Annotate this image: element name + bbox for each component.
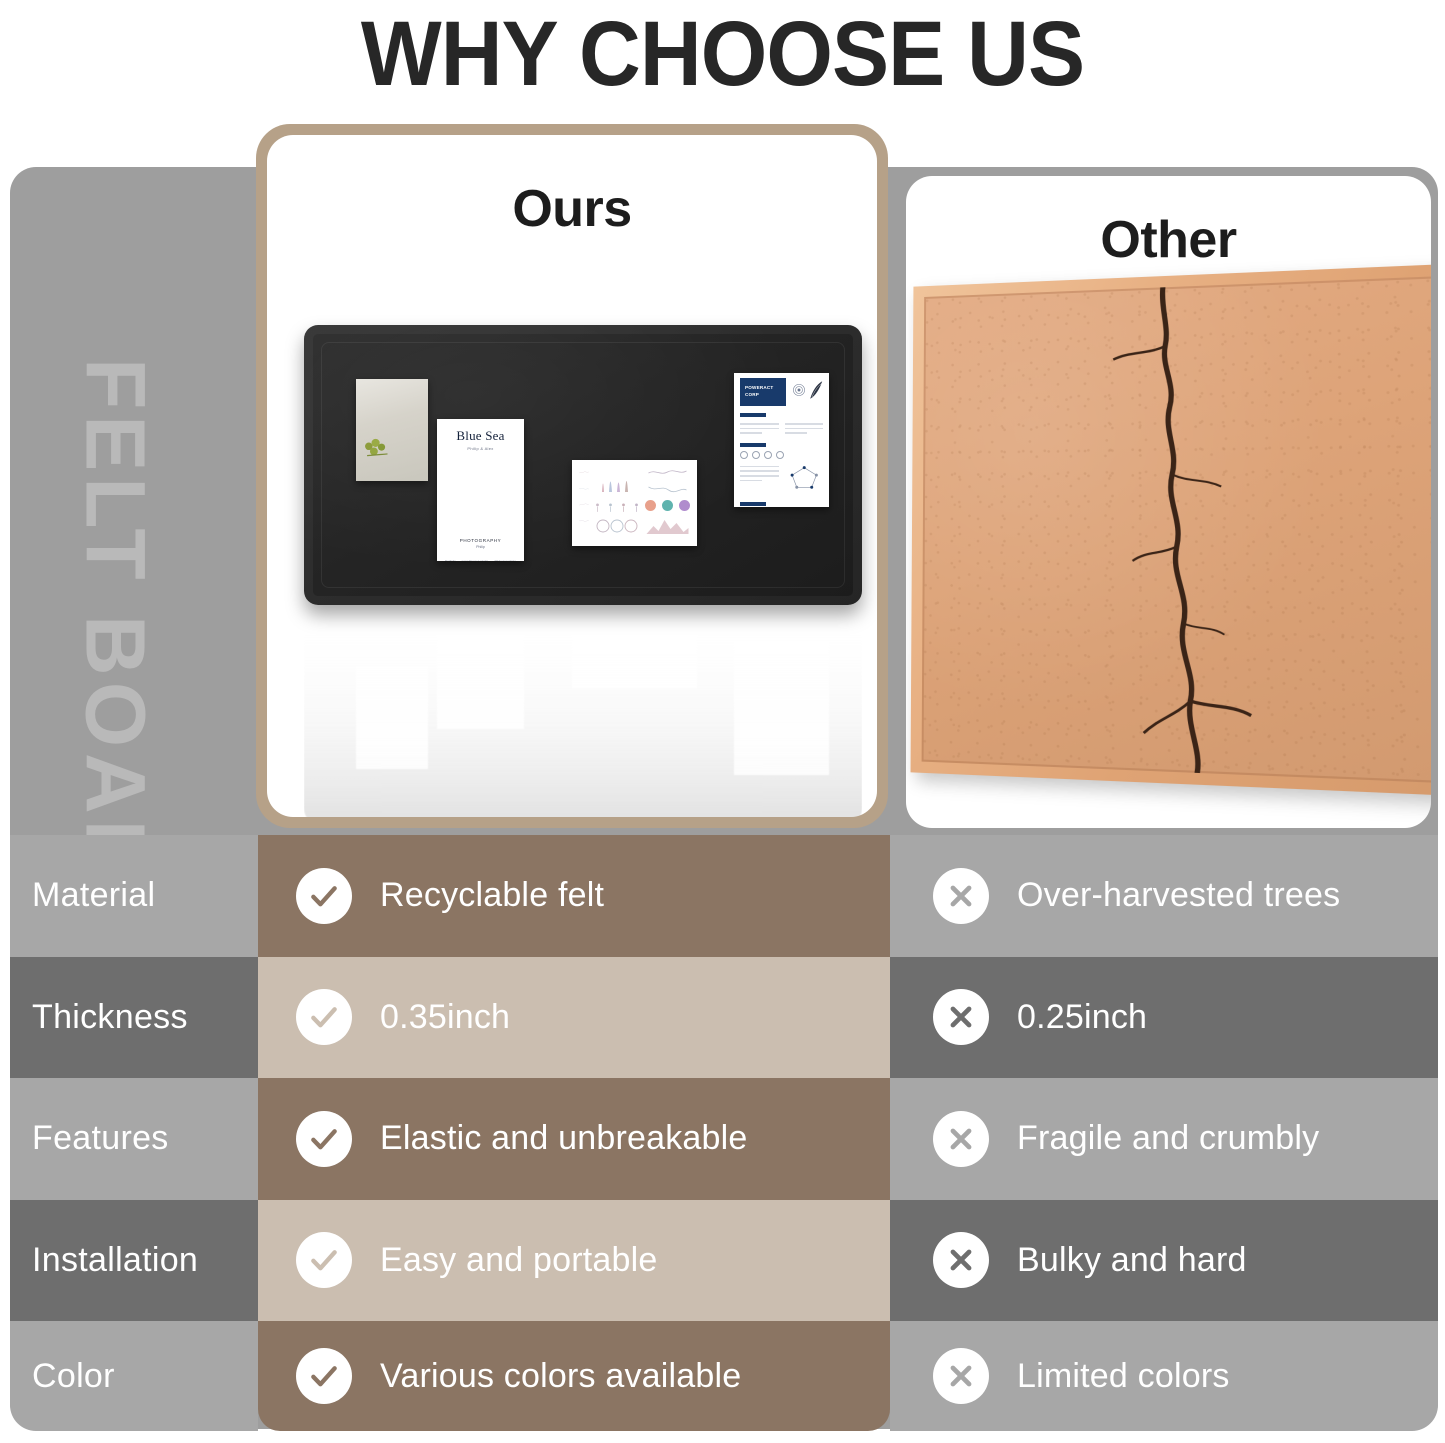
ours-cell: Easy and portable — [258, 1200, 890, 1322]
cork-board-product — [912, 284, 1424, 770]
poster-title: Blue Sea — [437, 428, 524, 444]
document-text-line — [740, 432, 762, 434]
document-brand: POWERACT CORP — [740, 378, 786, 406]
ours-value: Elastic and unbreakable — [380, 1119, 748, 1158]
cross-icon — [933, 1348, 989, 1404]
other-value: Limited colors — [1017, 1357, 1230, 1396]
cork-board-frame — [911, 263, 1431, 796]
other-value: Bulky and hard — [1017, 1241, 1247, 1280]
color-dot — [645, 500, 656, 511]
document-column — [740, 463, 779, 496]
document-text-line — [785, 432, 807, 434]
felt-board-product: Blue Sea Philip & Alex PHOTOGRAPHY Phili… — [304, 325, 862, 605]
check-icon — [296, 1232, 352, 1288]
other-cell: Over-harvested trees — [890, 835, 1438, 957]
badge-icon — [776, 451, 784, 459]
color-dot — [662, 500, 673, 511]
other-value: Over-harvested trees — [1017, 876, 1340, 915]
ours-cell: 0.35inch — [258, 957, 890, 1079]
document-text-line — [740, 423, 779, 425]
badge-icon — [740, 451, 748, 459]
reflection-item — [437, 587, 524, 729]
document-text-line — [740, 470, 779, 472]
document-icon-row — [740, 451, 823, 459]
other-cell: 0.25inch — [890, 957, 1438, 1079]
crack-icon — [922, 276, 1431, 784]
poster-footer: Portfolio www.bluesea.studio @bluesea.ph… — [437, 559, 524, 561]
pinned-infographic-sheet — [572, 460, 697, 546]
ours-cell: Various colors available — [258, 1321, 890, 1431]
row-label: Thickness — [10, 957, 258, 1079]
document-header: POWERACT CORP — [740, 378, 823, 407]
ours-value: Recyclable felt — [380, 876, 604, 915]
check-icon — [296, 868, 352, 924]
other-cell: Limited colors — [890, 1321, 1438, 1431]
document-diagram — [785, 463, 824, 496]
document-columns — [740, 420, 823, 437]
document-header-art — [791, 378, 823, 407]
infographic-cell — [594, 467, 640, 540]
other-value: Fragile and crumbly — [1017, 1119, 1319, 1158]
poster-footer-item: www.bluesea.studio — [462, 559, 489, 561]
infographic-cell — [645, 467, 690, 540]
row-label: Features — [10, 1078, 258, 1200]
cork-board-surface — [922, 276, 1431, 784]
row-label: Installation — [10, 1200, 258, 1322]
ours-product-card: Ours Blue Sea Philip & Alex PHOTOGRAPHY … — [256, 124, 888, 828]
check-icon — [296, 989, 352, 1045]
ours-value: 0.35inch — [380, 998, 510, 1037]
table-row: Color Various colors available Limited c… — [10, 1321, 1438, 1431]
document-section-bar — [740, 443, 766, 447]
poster-subtitle: Philip & Alex — [437, 446, 524, 451]
table-row: Thickness 0.35inch 0.25inch — [10, 957, 1438, 1079]
comparison-table: Material Recyclable felt Over-harvested … — [10, 835, 1438, 1429]
other-heading: Other — [906, 210, 1431, 270]
cross-icon — [933, 1111, 989, 1167]
document-text-line — [785, 428, 824, 430]
poster-caption: PHOTOGRAPHY — [437, 538, 524, 543]
badge-icon — [764, 451, 772, 459]
reflection-item — [734, 641, 829, 775]
poster-seascape-image — [443, 457, 518, 531]
cross-icon — [933, 989, 989, 1045]
ours-cell: Elastic and unbreakable — [258, 1078, 890, 1200]
other-cell: Bulky and hard — [890, 1200, 1438, 1322]
ours-card-inner: Ours Blue Sea Philip & Alex PHOTOGRAPHY … — [267, 135, 877, 817]
poster-footer-item: Portfolio — [445, 559, 456, 561]
other-cell: Fragile and crumbly — [890, 1078, 1438, 1200]
ours-cell: Recyclable felt — [258, 835, 890, 957]
document-columns — [740, 463, 823, 496]
reflection-item — [356, 667, 428, 769]
reflection-item — [572, 602, 697, 688]
poster-footer-item: @bluesea.photo — [494, 559, 516, 561]
infographic-grid — [579, 467, 690, 539]
other-value: 0.25inch — [1017, 998, 1147, 1037]
pinned-blue-sea-poster: Blue Sea Philip & Alex PHOTOGRAPHY Phili… — [437, 419, 524, 561]
poster-caption-sub: Philip — [437, 545, 524, 549]
row-label: Color — [10, 1321, 258, 1431]
document-text-line — [740, 466, 779, 468]
product-reflection — [304, 613, 862, 817]
check-icon — [296, 1348, 352, 1404]
cross-icon — [933, 868, 989, 924]
table-row: Features Elastic and unbreakable Fragile… — [10, 1078, 1438, 1200]
ours-value: Easy and portable — [380, 1241, 657, 1280]
cross-icon — [933, 1232, 989, 1288]
document-column — [740, 420, 779, 437]
table-row: Installation Easy and portable Bulky and… — [10, 1200, 1438, 1322]
table-row: Material Recyclable felt Over-harvested … — [10, 835, 1438, 957]
document-section-bar — [740, 413, 766, 417]
infographic-cell — [579, 467, 589, 540]
infographic-color-dots — [645, 500, 690, 511]
color-dot — [679, 500, 690, 511]
document-text-line — [740, 480, 762, 482]
infographic-markers — [594, 502, 640, 513]
check-icon — [296, 1111, 352, 1167]
pinned-corporate-document: POWERACT CORP — [734, 373, 829, 507]
document-text-line — [740, 428, 779, 430]
pinned-photo-print — [356, 379, 428, 481]
document-column — [785, 420, 824, 437]
flower-sprig-icon — [362, 435, 396, 461]
document-text-line — [785, 423, 824, 425]
row-label: Material — [10, 835, 258, 957]
page-title: WHY CHOOSE US — [51, 0, 1395, 108]
other-product-card: Other — [906, 176, 1431, 828]
badge-icon — [752, 451, 760, 459]
document-text-line — [740, 475, 779, 477]
ours-heading: Ours — [267, 179, 877, 239]
document-section-bar — [740, 502, 766, 506]
ours-value: Various colors available — [380, 1357, 741, 1396]
